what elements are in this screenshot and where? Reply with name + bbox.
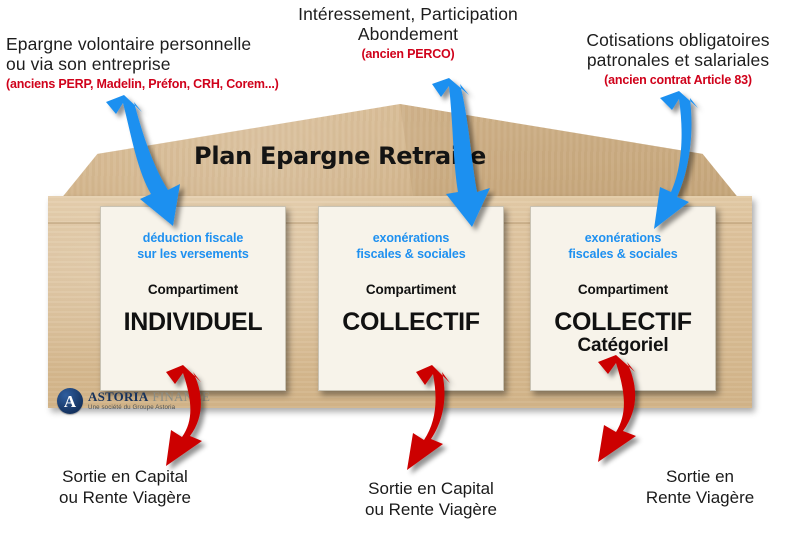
- astoria-logo-wordmark: ASTORIA FINANCE Une société du Groupe As…: [88, 390, 210, 411]
- outcome-3-line2: Rente Viagère: [600, 487, 800, 508]
- compartment-2-label: Compartiment: [319, 282, 503, 297]
- callout-epargne-volontaire: Epargne volontaire personnelle ou via so…: [6, 34, 306, 92]
- callout-left-line2: ou via son entreprise: [6, 54, 306, 74]
- callout-center-note: (ancien PERCO): [268, 47, 548, 61]
- astoria-finance-logo: A ASTORIA FINANCE Une société du Groupe …: [57, 388, 210, 414]
- outcome-2-line1: Sortie en Capital: [316, 478, 546, 499]
- compartment-2-name: COLLECTIF: [319, 309, 503, 335]
- callout-right-line1: Cotisations obligatoires: [556, 30, 800, 50]
- outcome-label-collectif-categoriel: Sortie en Rente Viagère: [600, 466, 800, 509]
- compartment-1-tax-line1: déduction fiscale: [101, 231, 285, 247]
- page-title: Plan Epargne Retraite: [60, 142, 620, 170]
- astoria-logo-tagline: Une société du Groupe Astoria: [88, 405, 210, 411]
- compartment-3-tax-line2: fiscales & sociales: [531, 247, 715, 263]
- compartment-2-tax-line1: exonérations: [319, 231, 503, 247]
- callout-right-line2: patronales et salariales: [556, 50, 800, 70]
- outcome-label-collectif: Sortie en Capital ou Rente Viagère: [316, 478, 546, 521]
- callout-right-note: (ancien contrat Article 83): [556, 73, 800, 87]
- callout-center-line2: Abondement: [268, 24, 548, 44]
- outcome-1-line2: ou Rente Viagère: [10, 487, 240, 508]
- compartment-card-collectif-categoriel: exonérations fiscales & sociales Compart…: [530, 206, 716, 391]
- compartment-card-individuel: déduction fiscale sur les versements Com…: [100, 206, 286, 391]
- astoria-logo-letter: A: [57, 388, 83, 414]
- callout-left-note: (anciens PERP, Madelin, Préfon, CRH, Cor…: [6, 77, 306, 91]
- astoria-logo-name: ASTORIA: [88, 390, 148, 403]
- outcome-2-line2: ou Rente Viagère: [316, 499, 546, 520]
- compartment-3-name: COLLECTIF Catégoriel: [531, 309, 715, 355]
- callout-cotisations: Cotisations obligatoires patronales et s…: [556, 30, 800, 88]
- compartment-2-tax-line2: fiscales & sociales: [319, 247, 503, 263]
- astoria-logo-name-second: FINANCE: [152, 390, 210, 403]
- compartment-card-collectif: exonérations fiscales & sociales Compart…: [318, 206, 504, 391]
- compartment-3-name-sub: Catégoriel: [531, 336, 715, 356]
- compartment-3-tax-line1: exonérations: [531, 231, 715, 247]
- astoria-logo-icon: A: [57, 388, 83, 414]
- compartment-3-name-main: COLLECTIF: [554, 308, 692, 336]
- compartment-3-label: Compartiment: [531, 282, 715, 297]
- outcome-label-individuel: Sortie en Capital ou Rente Viagère: [10, 466, 240, 509]
- callout-left-line1: Epargne volontaire personnelle: [6, 34, 306, 54]
- outcome-1-line1: Sortie en Capital: [10, 466, 240, 487]
- diagram-canvas: Plan Epargne Retraite Epargne volontaire…: [0, 0, 800, 550]
- callout-interessement: Intéressement, Participation Abondement …: [268, 4, 548, 62]
- compartment-1-tax-line2: sur les versements: [101, 247, 285, 263]
- compartment-1-label: Compartiment: [101, 282, 285, 297]
- callout-center-line1: Intéressement, Participation: [268, 4, 548, 24]
- outcome-3-line1: Sortie en: [600, 466, 800, 487]
- compartment-1-name: INDIVIDUEL: [101, 309, 285, 335]
